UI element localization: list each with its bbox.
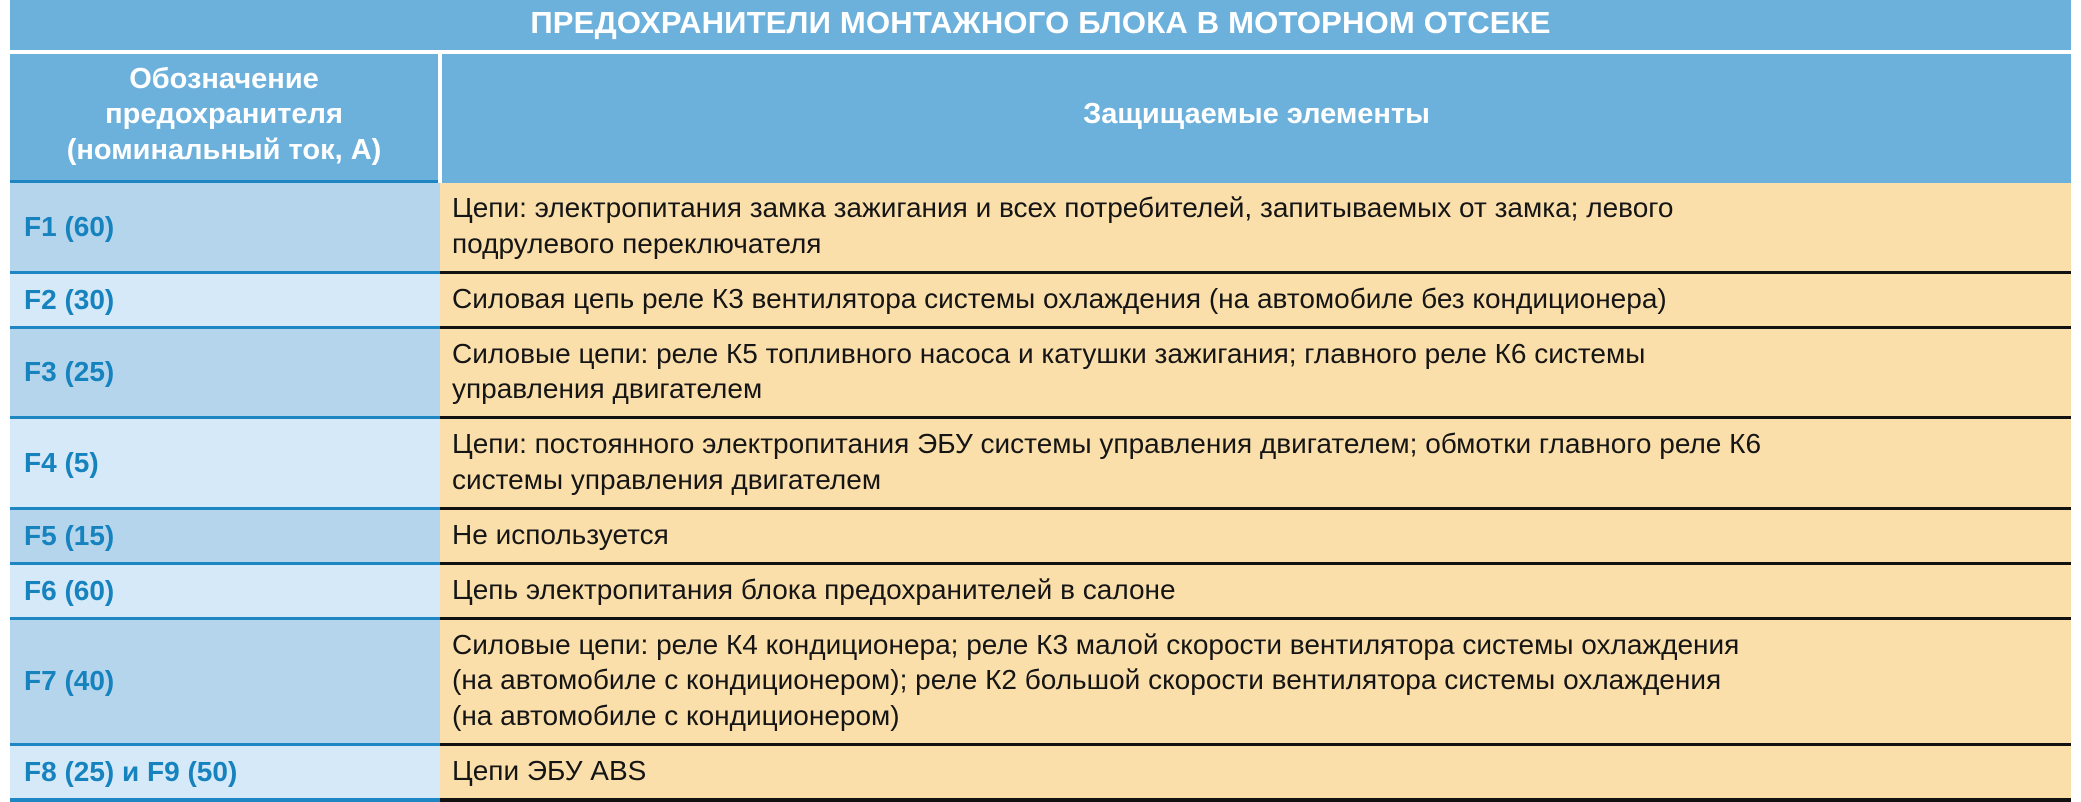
description-line: (на автомобиле с кондиционером) [452,698,2061,734]
description-line: Цепь электропитания блока предохранителе… [452,572,2061,608]
fuse-designation: F7 (40) [10,618,440,744]
protected-elements-description: Силовая цепь реле К3 вентилятора системы… [440,272,2071,327]
description-line: Цепи ЭБУ ABS [452,753,2061,789]
column-header-fuse-designation: Обозначение предохранителя (номинальный … [10,52,440,182]
fuse-designation: F6 (60) [10,563,440,618]
column-header-line-3: (номинальный ток, А) [16,133,432,168]
title-row: ПРЕДОХРАНИТЕЛИ МОНТАЖНОГО БЛОКА В МОТОРН… [10,0,2071,52]
table-head: ПРЕДОХРАНИТЕЛИ МОНТАЖНОГО БЛОКА В МОТОРН… [10,0,2071,182]
protected-elements-description: Цепи: электропитания замка зажигания и в… [440,182,2071,273]
table-row: F6 (60) Цепь электропитания блока предох… [10,563,2071,618]
description-line: подрулевого переключателя [452,226,2061,262]
description-line: Цепи: постоянного электропитания ЭБУ сис… [452,426,2061,462]
protected-elements-description: Цепь электропитания блока предохранителе… [440,563,2071,618]
column-header-protected-elements: Защищаемые элементы [440,52,2071,182]
column-header-line-1: Обозначение [16,62,432,97]
protected-elements-description: Цепи ЭБУ ABS [440,745,2071,800]
table-row: F1 (60) Цепи: электропитания замка зажиг… [10,182,2071,273]
table-row: F7 (40) Силовые цепи: реле К4 кондиционе… [10,618,2071,744]
fuse-designation: F4 (5) [10,418,440,509]
protected-elements-description: Силовые цепи: реле К5 топливного насоса … [440,327,2071,418]
table-row: F8 (25) и F9 (50) Цепи ЭБУ ABS [10,745,2071,800]
fuse-designation: F8 (25) и F9 (50) [10,745,440,800]
protected-elements-description: Цепи: постоянного электропитания ЭБУ сис… [440,418,2071,509]
table-body: F1 (60) Цепи: электропитания замка зажиг… [10,182,2071,800]
fuse-designation: F5 (15) [10,508,440,563]
column-header-row: Обозначение предохранителя (номинальный … [10,52,2071,182]
description-line: Силовая цепь реле К3 вентилятора системы… [452,281,2061,317]
fuse-designation: F1 (60) [10,182,440,273]
fuse-designation: F3 (25) [10,327,440,418]
table-title: ПРЕДОХРАНИТЕЛИ МОНТАЖНОГО БЛОКА В МОТОРН… [10,0,2071,52]
fuse-designation: F2 (30) [10,272,440,327]
protected-elements-description: Силовые цепи: реле К4 кондиционера; реле… [440,618,2071,744]
description-line: Силовые цепи: реле К4 кондиционера; реле… [452,627,2061,663]
description-line: системы управления двигателем [452,462,2061,498]
table-row: F5 (15) Не используется [10,508,2071,563]
fuse-table: ПРЕДОХРАНИТЕЛИ МОНТАЖНОГО БЛОКА В МОТОРН… [10,0,2071,802]
protected-elements-description: Не используется [440,508,2071,563]
description-line: Не используется [452,517,2061,553]
column-header-line-2: предохранителя [16,97,432,132]
description-line: (на автомобиле с кондиционером); реле К2… [452,662,2061,698]
fuse-table-container: ПРЕДОХРАНИТЕЛИ МОНТАЖНОГО БЛОКА В МОТОРН… [0,0,2081,778]
description-line: управления двигателем [452,371,2061,407]
description-line: Цепи: электропитания замка зажигания и в… [452,190,2061,226]
table-row: F4 (5) Цепи: постоянного электропитания … [10,418,2071,509]
table-row: F2 (30) Силовая цепь реле К3 вентилятора… [10,272,2071,327]
description-line: Силовые цепи: реле К5 топливного насоса … [452,336,2061,372]
table-row: F3 (25) Силовые цепи: реле К5 топливного… [10,327,2071,418]
